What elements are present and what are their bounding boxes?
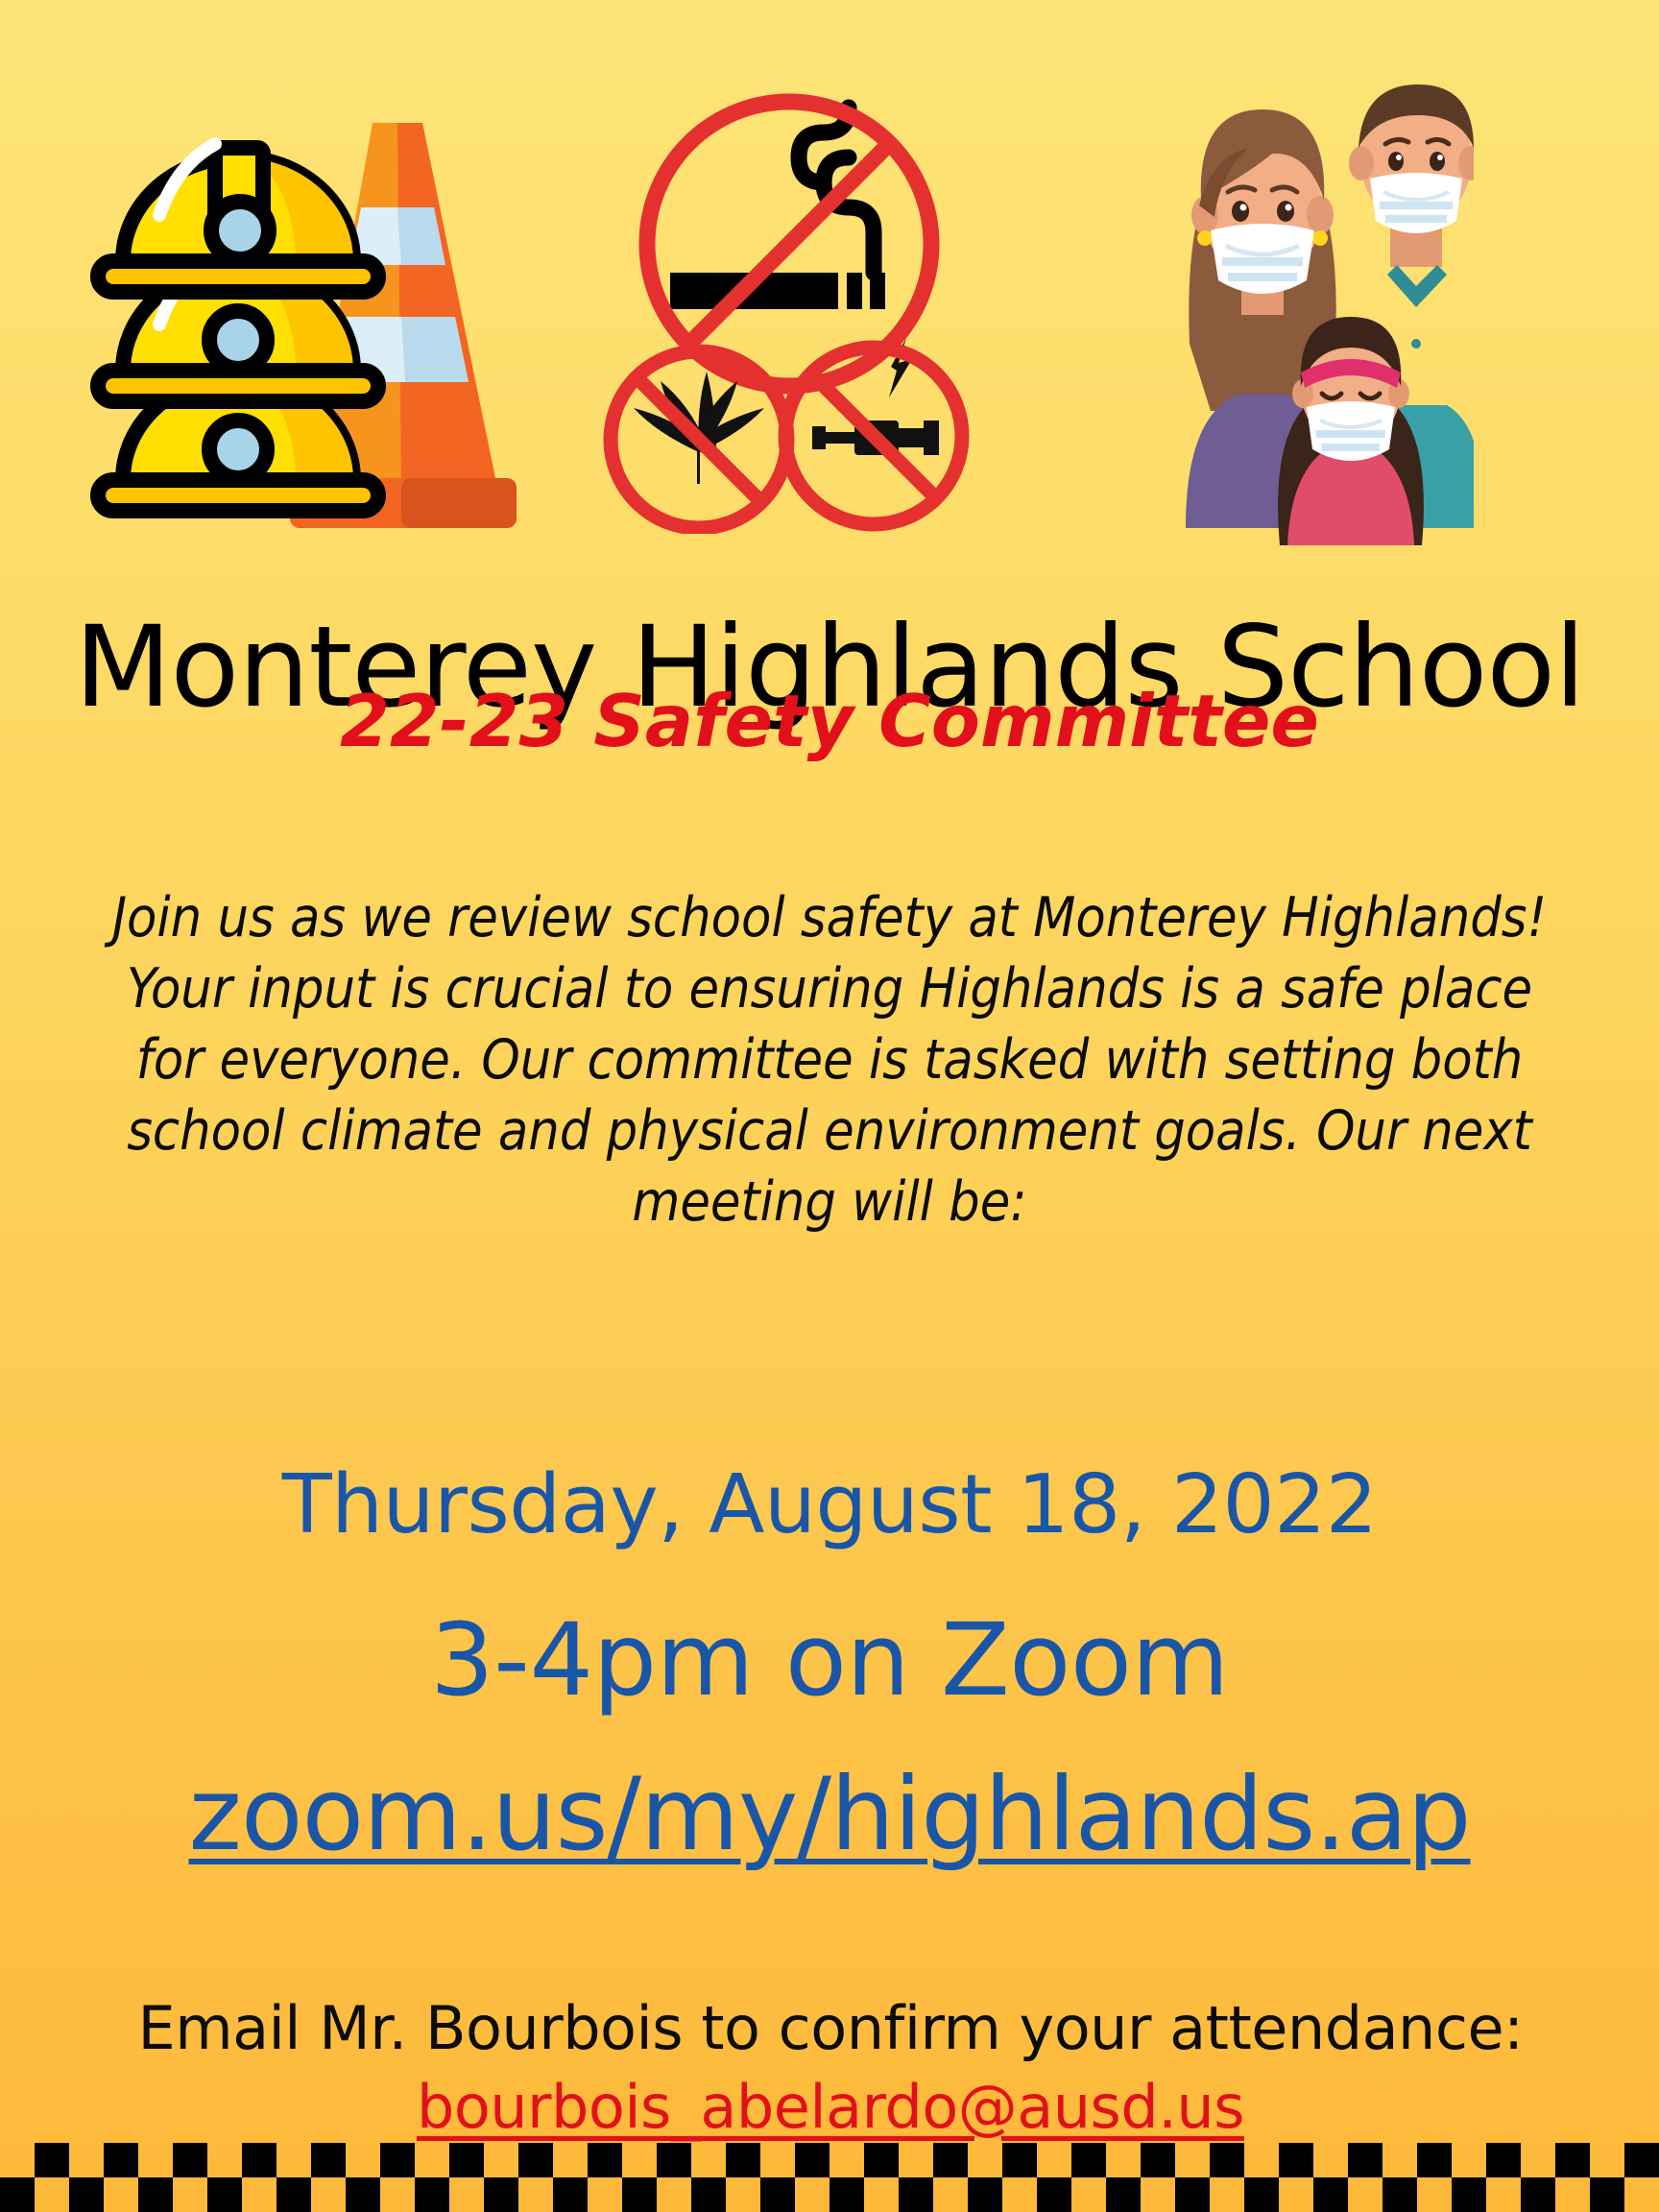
no-substances-icon-group <box>586 83 998 534</box>
safety-committee-flyer: Monterey Highlands School 22-23 Safety C… <box>0 0 1659 2212</box>
meeting-time: 3-4pm on Zoom <box>0 1601 1659 1719</box>
zoom-meeting-link[interactable]: zoom.us/my/highlands.ap <box>0 1755 1659 1873</box>
family-with-masks-icon <box>1157 56 1474 545</box>
hard-hat-and-cone-icon <box>84 65 545 545</box>
email-instruction-text: Email Mr. Bourbois to confirm your atten… <box>138 1993 1524 2063</box>
header-graphics-row <box>0 36 1659 536</box>
contact-email-link[interactable]: bourbois_abelardo@ausd.us <box>417 2072 1244 2142</box>
checkered-footer-border <box>0 2143 1659 2212</box>
meeting-date: Thursday, August 18, 2022 <box>0 1457 1659 1552</box>
page-subtitle: 22-23 Safety Committee <box>0 680 1659 763</box>
body-paragraph: Join us as we review school safety at Mo… <box>100 882 1559 1238</box>
email-instruction: Email Mr. Bourbois to confirm your atten… <box>115 1989 1546 2147</box>
